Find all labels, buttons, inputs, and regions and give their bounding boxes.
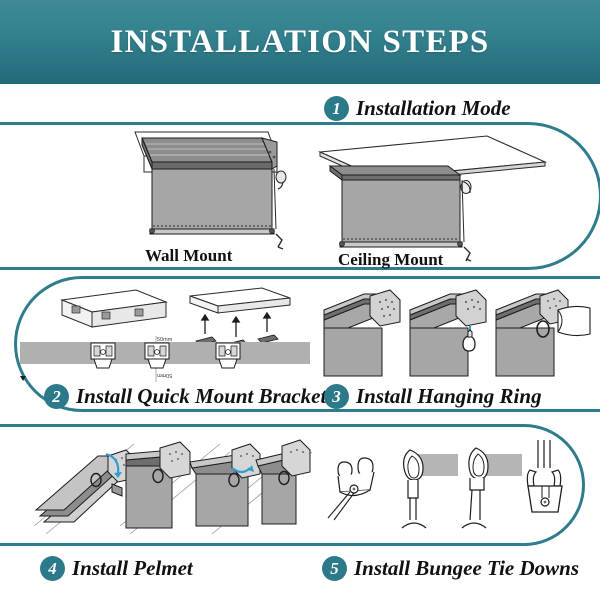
step-1-label: Installation Mode bbox=[356, 98, 511, 119]
ceiling-mount-drawing bbox=[320, 136, 545, 261]
step-3-badge: 3 bbox=[324, 384, 349, 409]
installation-steps-poster: INSTALLATION STEPS 1 Installation Mode bbox=[0, 0, 600, 600]
hanging-ring-step-b bbox=[410, 290, 486, 376]
step-5-badge: 5 bbox=[322, 556, 347, 581]
bungee-hook-a bbox=[328, 458, 374, 520]
step-2-badge: 2 bbox=[44, 384, 69, 409]
pelmet-step-b bbox=[126, 442, 190, 528]
step-1-badge: 1 bbox=[324, 96, 349, 121]
step-2-wall-band bbox=[20, 336, 310, 388]
bungee-hook-c bbox=[462, 448, 522, 528]
headrail-box-with-brackets bbox=[62, 290, 166, 327]
header-banner: INSTALLATION STEPS bbox=[0, 0, 600, 84]
step-1-caption: 1 Installation Mode bbox=[324, 96, 511, 121]
wall-mount-label: Wall Mount bbox=[145, 246, 232, 266]
step-2-dimension-top: 50mm bbox=[157, 337, 172, 343]
bungee-bracket-d bbox=[527, 440, 562, 512]
step-1-illustration bbox=[0, 122, 600, 272]
step-4-illustration bbox=[34, 430, 309, 540]
step-4-badge: 4 bbox=[40, 556, 65, 581]
step-3-illustration bbox=[318, 282, 593, 390]
pelmet-step-a bbox=[36, 450, 136, 522]
page-title: INSTALLATION STEPS bbox=[111, 24, 490, 61]
bungee-hook-b bbox=[402, 450, 458, 528]
step-5-label: Install Bungee Tie Downs bbox=[354, 558, 579, 579]
step-5-caption: 5 Install Bungee Tie Downs bbox=[322, 556, 579, 581]
pelmet-step-d bbox=[256, 440, 310, 524]
step-2-dimension-bottom: 50mm bbox=[157, 372, 172, 378]
step-3-label: Install Hanging Ring bbox=[356, 386, 542, 407]
mounted-bracket-group bbox=[91, 343, 240, 368]
pelmet-step-c bbox=[190, 444, 260, 526]
step-3-caption: 3 Install Hanging Ring bbox=[324, 384, 542, 409]
hanging-ring-step-a bbox=[324, 290, 400, 376]
ceiling-mount-label: Ceiling Mount bbox=[338, 250, 443, 270]
step-5-illustration bbox=[330, 440, 580, 540]
step-4-caption: 4 Install Pelmet bbox=[40, 556, 193, 581]
step-2-label: Install Quick Mount Bracketws bbox=[76, 386, 348, 407]
step-2-caption: 2 Install Quick Mount Bracketws bbox=[44, 384, 348, 409]
wall-mount-drawing bbox=[135, 132, 286, 249]
step-4-label: Install Pelmet bbox=[72, 558, 193, 579]
hanging-ring-step-c bbox=[496, 290, 590, 376]
